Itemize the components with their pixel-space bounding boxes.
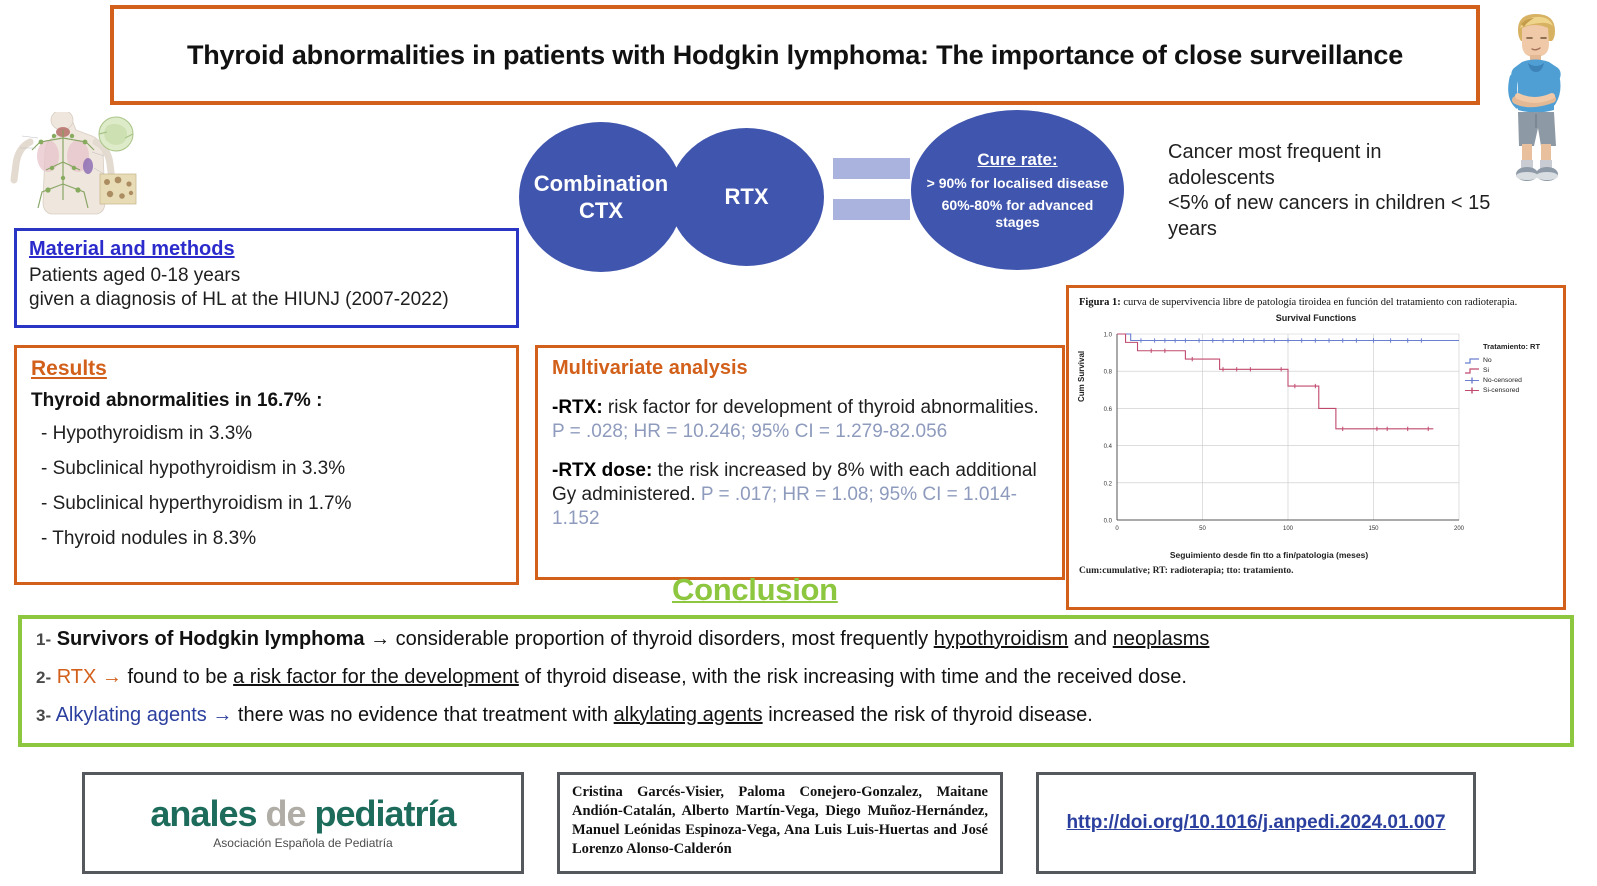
material-methods-line-1: Patients aged 0-18 years [29,264,504,288]
conclusion-text-pre: there was no evidence that treatment wit… [238,704,614,726]
multivariate-dose-label: -RTX dose: [552,460,652,481]
lymphatic-system-diagram-icon [8,112,140,216]
conclusion-box: 1- Survivors of Hodgkin lymphoma → consi… [18,615,1574,747]
equals-icon [833,158,910,220]
frequency-line-4: years [1168,217,1528,243]
conclusion-underline-2: neoplasms [1113,628,1210,650]
results-item: - Thyroid nodules in 8.3% [41,528,502,550]
chart-legend: Tratamiento: RT No Si No-censored [1464,342,1559,396]
legend-swatch-no-censored [1464,377,1480,384]
results-item: - Subclinical hyperthyroidism in 1.7% [41,493,502,515]
svg-text:50: 50 [1199,526,1206,532]
legend-label: Si [1483,367,1489,374]
conclusion-heading: Conclusion [672,572,838,608]
frequency-line-1: Cancer most frequent in [1168,140,1528,166]
journal-logo-box: anales de pediatría Asociación Española … [82,772,524,874]
chart-x-axis-label: Seguimiento desde fin tto a fin/patologi… [1079,550,1459,560]
results-box: Results Thyroid abnormalities in 16.7% :… [14,345,519,585]
svg-text:200: 200 [1454,526,1465,532]
legend-swatch-si-censored [1464,387,1480,394]
results-title: Results [31,357,502,381]
ctx-line-1: Combination [534,170,668,198]
legend-label: Si-censored [1483,387,1519,394]
svg-text:0.4: 0.4 [1104,444,1113,450]
legend-item: Si-censored [1464,387,1559,394]
conclusion-text-mid: and [1068,628,1112,650]
conclusion-underline-1: a risk factor for the development [233,666,519,688]
conclusion-text-mid: increased the risk of thyroid disease. [763,704,1093,726]
results-lead: Thyroid abnormalities in 16.7% : [31,390,502,412]
figure-box: Figura 1: curva de supervivencia libre d… [1066,285,1566,610]
multivariate-rtx-label: -RTX: [552,397,603,418]
survival-chart: Cum Survival Seguimiento desde fin tto a… [1079,324,1557,564]
logo-word-pediatria: pediatría [315,793,456,834]
cure-rate-advanced: 60%-80% for advanced stages [921,197,1114,230]
material-and-methods-box: Material and methods Patients aged 0-18 … [14,228,519,328]
figure-caption-text: curva de supervivencia libre de patologí… [1121,297,1518,308]
cancer-frequency-text: Cancer most frequent in adolescents <5% … [1168,140,1528,242]
conclusion-item: 1- Survivors of Hodgkin lymphoma → consi… [36,627,1556,651]
svg-text:0.6: 0.6 [1104,407,1113,413]
multivariate-title: Multivariate analysis [552,357,1048,380]
authors-list: Cristina Garcés-Visier, Paloma Conejero-… [572,783,988,860]
material-methods-title: Material and methods [29,238,504,261]
figure-caption: Figura 1: curva de supervivencia libre d… [1079,296,1553,310]
legend-item: Si [1464,367,1559,374]
conclusion-number: 1- [36,630,51,649]
frequency-line-2: adolescents [1168,166,1528,192]
multivariate-rtx-stats: P = .028; HR = 10.246; 95% CI = 1.279-82… [552,421,947,442]
arrow-icon: → [102,666,122,688]
figure-caption-label: Figura 1: [1079,297,1121,308]
multivariate-rtx-text: risk factor for development of thyroid a… [603,397,1039,418]
conclusion-subject: Alkylating agents [56,704,207,726]
frequency-line-3: <5% of new cancers in children < 15 [1168,191,1528,217]
legend-swatch-no [1464,357,1480,364]
svg-text:1.0: 1.0 [1104,333,1113,339]
legend-item: No-censored [1464,377,1559,384]
legend-item: No [1464,357,1559,364]
svg-text:0.8: 0.8 [1104,370,1113,376]
legend-label: No [1483,357,1492,364]
authors-box: Cristina Garcés-Visier, Paloma Conejero-… [557,772,1003,874]
combination-ctx-circle: Combination CTX [519,122,683,272]
journal-logo: anales de pediatría [150,796,455,832]
conclusion-item: 2- RTX → found to be a risk factor for t… [36,665,1556,689]
doi-link[interactable]: http://doi.org/10.1016/j.anpedi.2024.01.… [1066,812,1445,834]
conclusion-number: 3- [36,706,51,725]
doi-box: http://doi.org/10.1016/j.anpedi.2024.01.… [1036,772,1476,874]
chart-title: Survival Functions [1079,313,1553,323]
legend-title: Tratamiento: RT [1464,342,1559,351]
multivariate-rtx-paragraph: -RTX: risk factor for development of thy… [552,396,1048,445]
arrow-icon: → [370,628,390,650]
svg-text:0: 0 [1115,526,1119,532]
rtx-circle: RTX [669,128,824,266]
conclusion-text-mid: of thyroid disease, with the risk increa… [519,666,1187,688]
svg-text:0.2: 0.2 [1104,481,1113,487]
svg-text:150: 150 [1368,526,1379,532]
arrow-icon: → [212,704,232,726]
svg-text:100: 100 [1283,526,1294,532]
figure-footnote: Cum:cumulative; RT: radioterapia; tto: t… [1079,566,1553,576]
conclusion-text-pre: considerable proportion of thyroid disor… [396,628,934,650]
ctx-line-2: CTX [534,197,668,225]
svg-text:0.0: 0.0 [1104,519,1113,525]
legend-swatch-si [1464,367,1480,374]
conclusion-text-pre: found to be [127,666,233,688]
multivariate-analysis-box: Multivariate analysis -RTX: risk factor … [535,345,1065,580]
conclusion-item: 3- Alkylating agents → there was no evid… [36,703,1556,727]
conclusion-underline-1: alkylating agents [614,704,763,726]
poster-title-box: Thyroid abnormalities in patients with H… [110,5,1480,105]
cure-rate-circle: Cure rate: > 90% for localised disease 6… [911,110,1124,270]
conclusion-subject: Survivors of Hodgkin lymphoma [57,628,365,650]
logo-word-de: de [266,793,306,834]
conclusion-subject: RTX [57,666,97,688]
material-methods-line-2: given a diagnosis of HL at the HIUNJ (20… [29,288,504,312]
results-item: - Hypothyroidism in 3.3% [41,423,502,445]
multivariate-dose-paragraph: -RTX dose: the risk increased by 8% with… [552,459,1048,532]
conclusion-underline-1: hypothyroidism [934,628,1069,650]
conclusion-number: 2- [36,668,51,687]
logo-word-anales: anales [150,793,256,834]
page-title: Thyroid abnormalities in patients with H… [163,39,1427,72]
journal-logo-subtitle: Asociación Española de Pediatría [213,836,392,850]
legend-label: No-censored [1483,377,1522,384]
cure-rate-localised: > 90% for localised disease [927,175,1109,192]
cure-rate-title: Cure rate: [977,150,1057,170]
results-item: - Subclinical hypothyroidism in 3.3% [41,458,502,480]
chart-y-axis-label: Cum Survival [1077,351,1086,402]
